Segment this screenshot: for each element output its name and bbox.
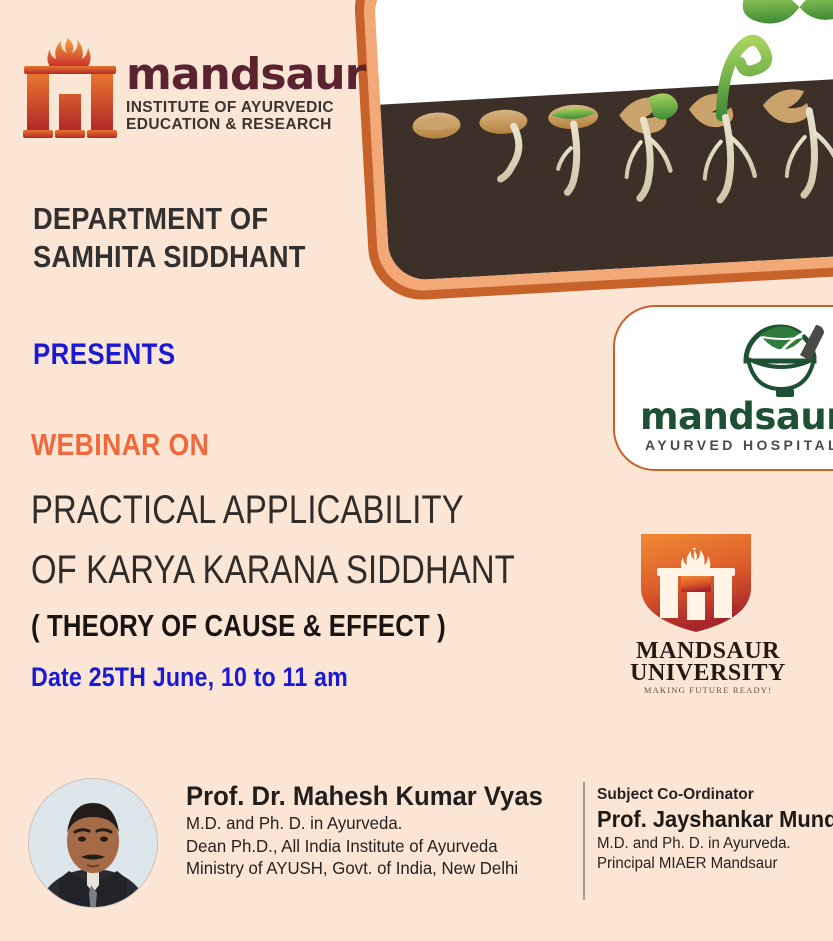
seedlings-svg [373,0,833,281]
university-tagline: MAKING FUTURE READY! [613,685,803,695]
speaker-credential: M.D. and Ph. D. in Ayurveda. [186,812,562,835]
university-logo: MANDSAUR UNIVERSITY MAKING FUTURE READY! [613,528,803,693]
coordinator-affiliation: Principal MIAER Mandsaur [597,854,822,874]
portrait-photo [29,779,157,907]
university-name-line2: UNIVERSITY [613,662,803,685]
coordinator-name: Prof. Jayshankar Mund [597,805,817,834]
institute-subtitle: INSTITUTE OF AYURVEDIC EDUCATION & RESEA… [126,99,365,133]
shield-torch-icon [635,528,757,638]
institute-wordmark: mandsaur [126,54,365,96]
department-line1: DEPARTMENT OF [33,200,403,238]
webinar-kicker: WEBINAR ON [31,427,209,463]
hospital-subtitle: AYURVED HOSPITAL [645,437,833,453]
event-title-line1: PRACTICAL APPLICABILITY [31,488,464,533]
event-title-line2: OF KARYA KARANA SIDDHANT [31,548,515,593]
hospital-logo-panel: mandsaur AYURVED HOSPITAL [613,305,833,471]
department-heading: DEPARTMENT OF SAMHITA SIDDHANT [33,200,403,276]
speaker-affiliation: Ministry of AYUSH, Govt. of India, New D… [186,857,562,880]
coordinator-details: Subject Co-Ordinator Prof. Jayshankar Mu… [597,784,829,874]
event-date-time: Date 25TH June, 10 to 11 am [31,662,348,693]
speaker-divider [583,782,585,900]
presents-label: PRESENTS [33,338,176,372]
institute-subtitle-line1: INSTITUTE OF AYURVEDIC [126,99,365,116]
coordinator-role-label: Subject Co-Ordinator [597,784,829,805]
speaker-portrait [28,778,158,908]
speaker-name: Prof. Dr. Mahesh Kumar Vyas [186,780,558,812]
webinar-poster: mandsaur INSTITUTE OF AYURVEDIC EDUCATIO… [0,0,833,941]
germination-stages-icon [373,0,833,281]
speaker-role: Dean Ph.D., All India Institute of Ayurv… [186,835,562,858]
institute-subtitle-line2: EDUCATION & RESEARCH [126,116,365,133]
coordinator-credential: M.D. and Ph. D. in Ayurveda. [597,834,822,854]
institute-logo-text: mandsaur INSTITUTE OF AYURVEDIC EDUCATIO… [126,54,365,133]
event-subtitle: ( THEORY OF CAUSE & EFFECT ) [31,608,446,644]
mortar-pestle-leaf-icon [738,319,833,401]
seedling-illustration-frame [352,0,833,302]
department-line2: SAMHITA SIDDHANT [33,238,403,276]
speaker-details: Prof. Dr. Mahesh Kumar Vyas M.D. and Ph.… [186,780,578,880]
institute-logo: mandsaur INSTITUTE OF AYURVEDIC EDUCATIO… [22,28,342,146]
pillar-torch-icon [22,32,118,140]
hospital-wordmark: mandsaur [640,395,833,438]
